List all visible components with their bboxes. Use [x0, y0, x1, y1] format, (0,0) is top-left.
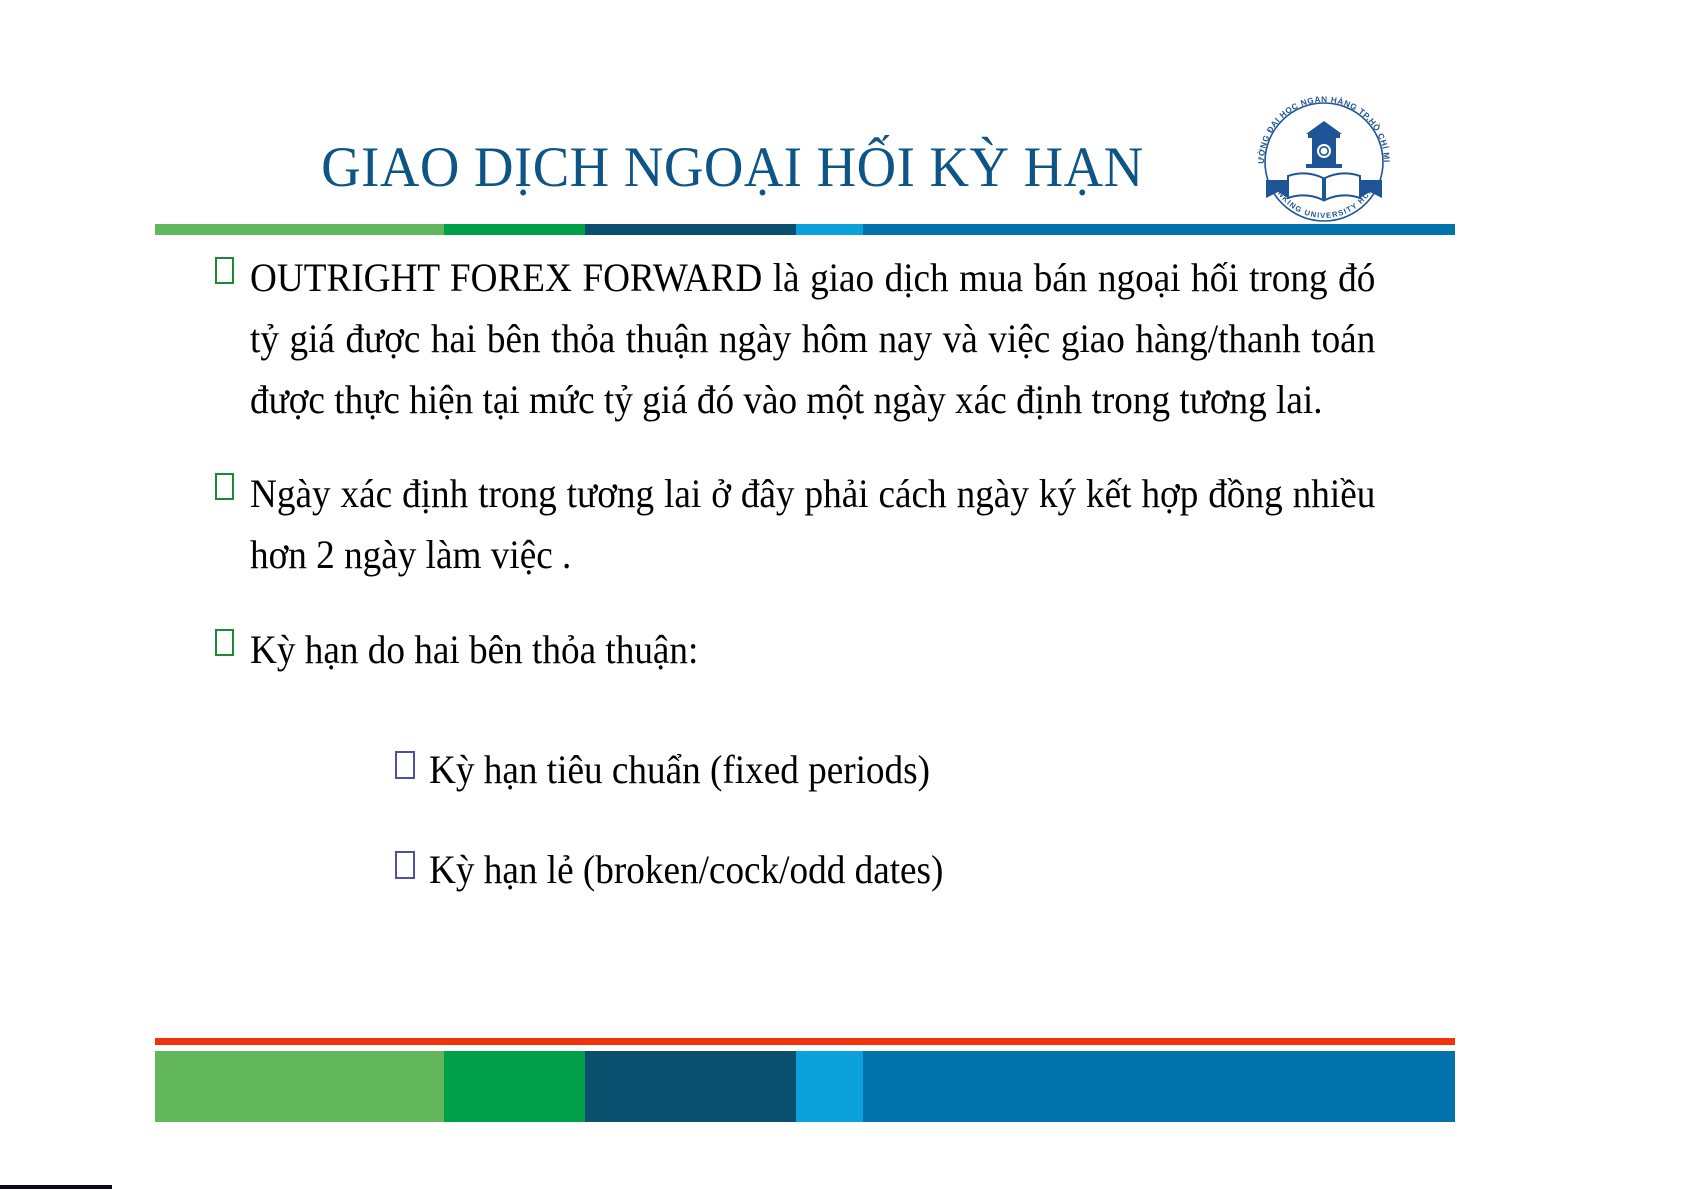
- top-accent-bar: [155, 224, 1455, 235]
- bar-segment-navy: [585, 224, 796, 235]
- bottom-accent-bar: [155, 1051, 1455, 1122]
- slide-canvas: GIAO DỊCH NGOẠI HỐI KỲ HẠN TRƯỜNG ĐẠI HỌ…: [0, 0, 1685, 1191]
- bullet-item: OUTRIGHT FOREX FORWARD là giao dịch mua …: [215, 248, 1460, 430]
- bullet-text: Kỳ hạn do hai bên thỏa thuận:: [250, 620, 1375, 681]
- sub-bullet-text: Kỳ hạn lẻ (broken/cock/odd dates): [429, 843, 1388, 897]
- bottom-red-rule: [155, 1038, 1455, 1045]
- title-zone: GIAO DỊCH NGOẠI HỐI KỲ HẠN: [155, 125, 1310, 210]
- bar-segment-green: [444, 1051, 586, 1122]
- bar-segment-green: [444, 224, 586, 235]
- bar-segment-blue: [863, 224, 1455, 235]
- slide-body: OUTRIGHT FOREX FORWARD là giao dịch mua …: [215, 248, 1460, 937]
- bullet-item: Kỳ hạn do hai bên thỏa thuận:: [215, 620, 1460, 681]
- bar-segment-navy: [585, 1051, 796, 1122]
- hollow-square-bullet-icon: [215, 629, 234, 661]
- hollow-square-bullet-icon: [395, 751, 415, 784]
- hollow-square-bullet-icon: [215, 473, 234, 505]
- bullet-item: Ngày xác định trong tương lai ở đây phải…: [215, 464, 1460, 586]
- bar-segment-cyan: [796, 1051, 864, 1122]
- sub-bullet-item: Kỳ hạn tiêu chuẩn (fixed periods): [395, 743, 1460, 797]
- bar-segment-blue: [863, 1051, 1455, 1122]
- bar-segment-light-green: [155, 1051, 444, 1122]
- sub-bullet-text: Kỳ hạn tiêu chuẩn (fixed periods): [429, 743, 1388, 797]
- page-title: GIAO DỊCH NGOẠI HỐI KỲ HẠN: [321, 138, 1144, 198]
- bar-segment-light-green: [155, 224, 444, 235]
- sub-bullet-item: Kỳ hạn lẻ (broken/cock/odd dates): [395, 843, 1460, 897]
- footer-tick-rule: [0, 1185, 112, 1189]
- bullet-text: Ngày xác định trong tương lai ở đây phải…: [250, 464, 1375, 586]
- hollow-square-bullet-icon: [395, 851, 415, 884]
- bar-segment-cyan: [796, 224, 864, 235]
- hollow-square-bullet-icon: [215, 257, 234, 289]
- banking-university-logo: TRƯỜNG ĐẠI HỌC NGÂN HÀNG TP.HỒ CHÍ MINH …: [1248, 96, 1400, 224]
- bullet-text: OUTRIGHT FOREX FORWARD là giao dịch mua …: [250, 248, 1375, 430]
